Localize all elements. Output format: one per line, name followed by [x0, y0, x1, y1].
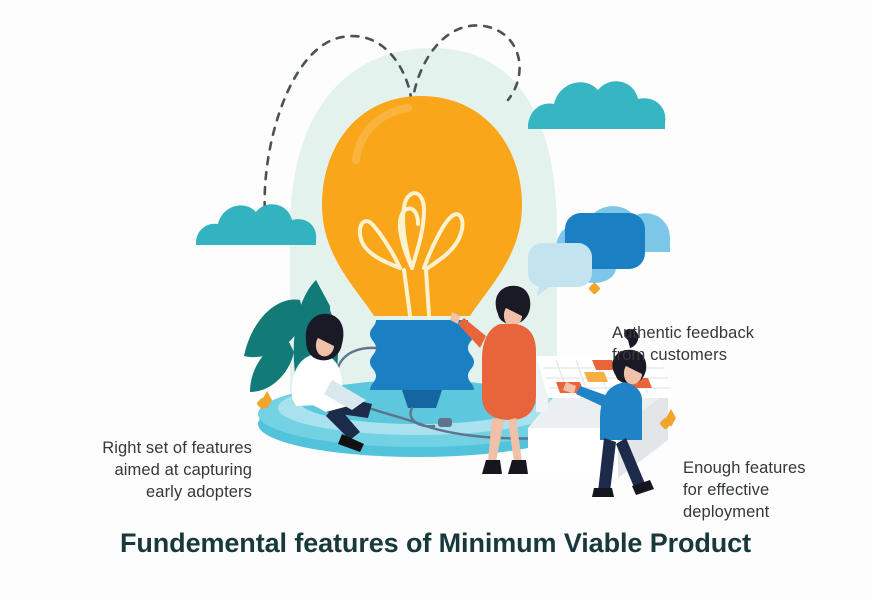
- callout-right-set-of-features: Right set of features aimed at capturing…: [80, 394, 252, 526]
- callout-bottom-right-text: Enough features for effective deployment: [683, 458, 833, 524]
- infographic-poster: Right set of features aimed at capturing…: [0, 0, 871, 600]
- teal-cloud-top-right: [528, 81, 665, 129]
- callout-top-right-text: Authentic feedback from customers: [612, 323, 802, 367]
- callout-authentic-feedback: Authentic feedback from customers: [612, 279, 802, 389]
- callout-enough-features: Enough features for effective deployment: [683, 414, 833, 546]
- page-title: Fundemental features of Minimum Viable P…: [0, 528, 871, 559]
- callout-left-text: Right set of features aimed at capturing…: [80, 438, 252, 504]
